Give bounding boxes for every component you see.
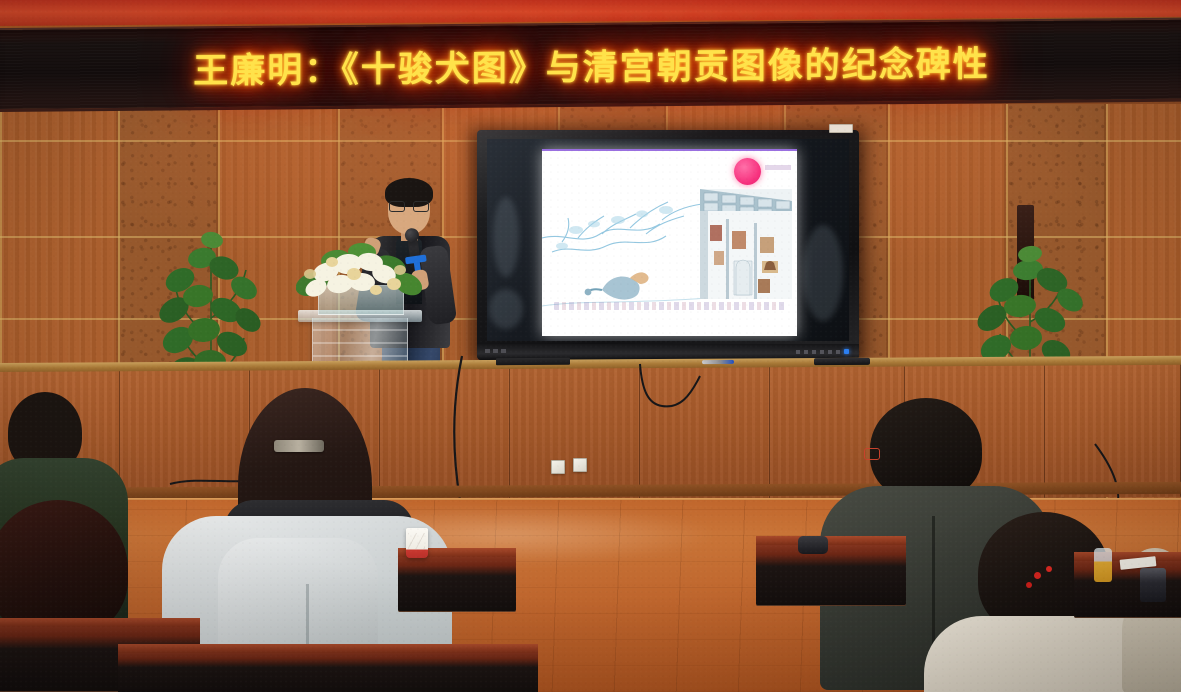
- desk-front-center: [118, 648, 538, 692]
- hair-tie: [1034, 572, 1041, 579]
- led-scrolling-banner: 王廉明：《十骏犬图》与清宫朝贡图像的纪念碑性: [0, 18, 1181, 112]
- attendee-hair: [870, 398, 982, 500]
- desk-right-back: [756, 540, 906, 606]
- hair-tie: [1046, 566, 1052, 572]
- desk-center: [398, 552, 516, 612]
- hair-tie: [1026, 582, 1032, 588]
- eyeglasses-icon: [864, 448, 880, 460]
- desk-front-center-top: [118, 644, 538, 653]
- juice-bottle[interactable]: [1094, 548, 1112, 582]
- jacket-zipper: [932, 516, 935, 656]
- paper-cup[interactable]: [406, 528, 428, 558]
- lecture-hall-scene: 王廉明：《十骏犬图》与清宫朝贡图像的纪念碑性: [0, 0, 1181, 692]
- led-banner-text: 王廉明：《十骏犬图》与清宫朝贡图像的纪念碑性: [0, 34, 1181, 95]
- desk-left-top: [0, 618, 200, 627]
- object-on-desk: [798, 536, 828, 554]
- desk-right-back-top: [756, 536, 906, 545]
- travel-mug[interactable]: [1140, 568, 1166, 602]
- hair-clip: [274, 440, 324, 452]
